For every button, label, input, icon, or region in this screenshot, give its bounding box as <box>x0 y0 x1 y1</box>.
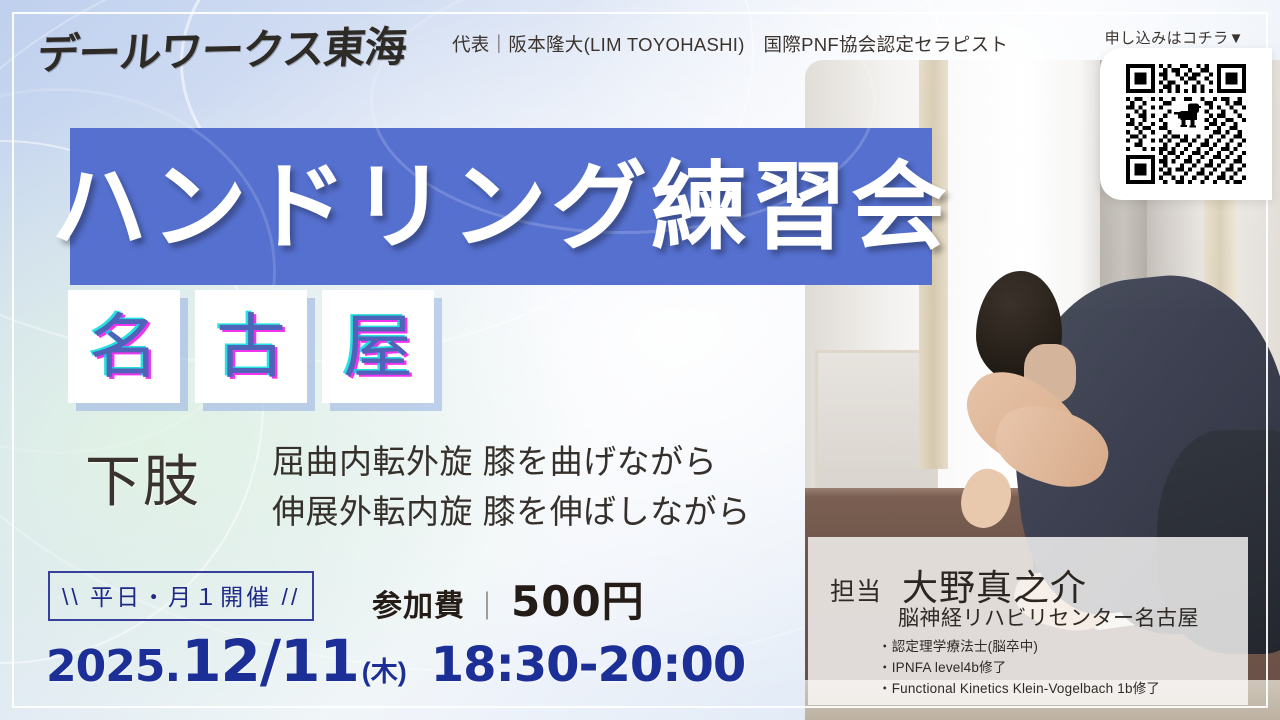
qr-instruction-label: 申し込みはコチラ▼ <box>1105 27 1244 48</box>
instructor-organization: 脳神経リハビリセンター名古屋 <box>898 602 1199 632</box>
qr-code-icon[interactable] <box>1126 64 1246 184</box>
frequency-badge: \\ 平日・月１開催 // <box>48 571 314 621</box>
instructor-credentials: ・認定理学療法士(脳卒中) ・IPNFA level4b修了 ・Function… <box>878 637 1160 700</box>
topic-line: 屈曲内転外旋 膝を曲げながら <box>272 437 751 487</box>
qr-card[interactable] <box>1100 48 1272 200</box>
fee-block: 参加費 ｜ 500円 <box>372 568 645 629</box>
event-day-of-week: (木) <box>362 650 407 689</box>
event-title-band: ハンドリング練習会 <box>70 128 932 285</box>
event-title: ハンドリング練習会 <box>51 159 951 255</box>
brand-logo: デールワークス東海 <box>35 13 409 82</box>
fee-label: 参加費 <box>372 581 465 625</box>
qr-code-svg <box>1126 64 1246 184</box>
city-char: 名 <box>89 312 159 382</box>
event-month-day: 12/11 <box>181 627 359 695</box>
city-box: 屋 <box>322 290 434 403</box>
city-boxes: 名 古 屋 <box>68 290 434 403</box>
event-flyer: デールワークス東海 代表｜阪本隆大(LIM TOYOHASHI) 国際PNF協会… <box>0 0 1280 720</box>
event-datetime: 2025. 12/11 (木) 18:30-20:00 <box>46 627 745 695</box>
city-char: 屋 <box>343 312 413 382</box>
city-box: 名 <box>68 290 180 403</box>
credential-item: ・IPNFA level4b修了 <box>878 658 1160 679</box>
event-year: 2025. <box>46 641 180 692</box>
fee-amount: 500円 <box>511 568 645 629</box>
credential-item: ・認定理学療法士(脳卒中) <box>878 637 1160 658</box>
topic-lines: 屈曲内転外旋 膝を曲げながら 伸展外転内旋 膝を伸ばしながら <box>272 437 751 537</box>
topic-line: 伸展外転内旋 膝を伸ばしながら <box>272 487 751 537</box>
topic-label: 下肢 <box>85 437 201 518</box>
city-char: 古 <box>216 312 286 382</box>
representative-note: 代表｜阪本隆大(LIM TOYOHASHI) 国際PNF協会認定セラピスト <box>452 31 1008 57</box>
fee-separator: ｜ <box>473 585 501 625</box>
event-time-range: 18:30-20:00 <box>431 637 746 693</box>
city-box: 古 <box>195 290 307 403</box>
instructor-panel: 担当 大野真之介 脳神経リハビリセンター名古屋 ・認定理学療法士(脳卒中) ・I… <box>808 537 1248 705</box>
instructor-role: 担当 <box>830 572 882 608</box>
credential-item: ・Functional Kinetics Klein-Vogelbach 1b修… <box>878 679 1160 700</box>
